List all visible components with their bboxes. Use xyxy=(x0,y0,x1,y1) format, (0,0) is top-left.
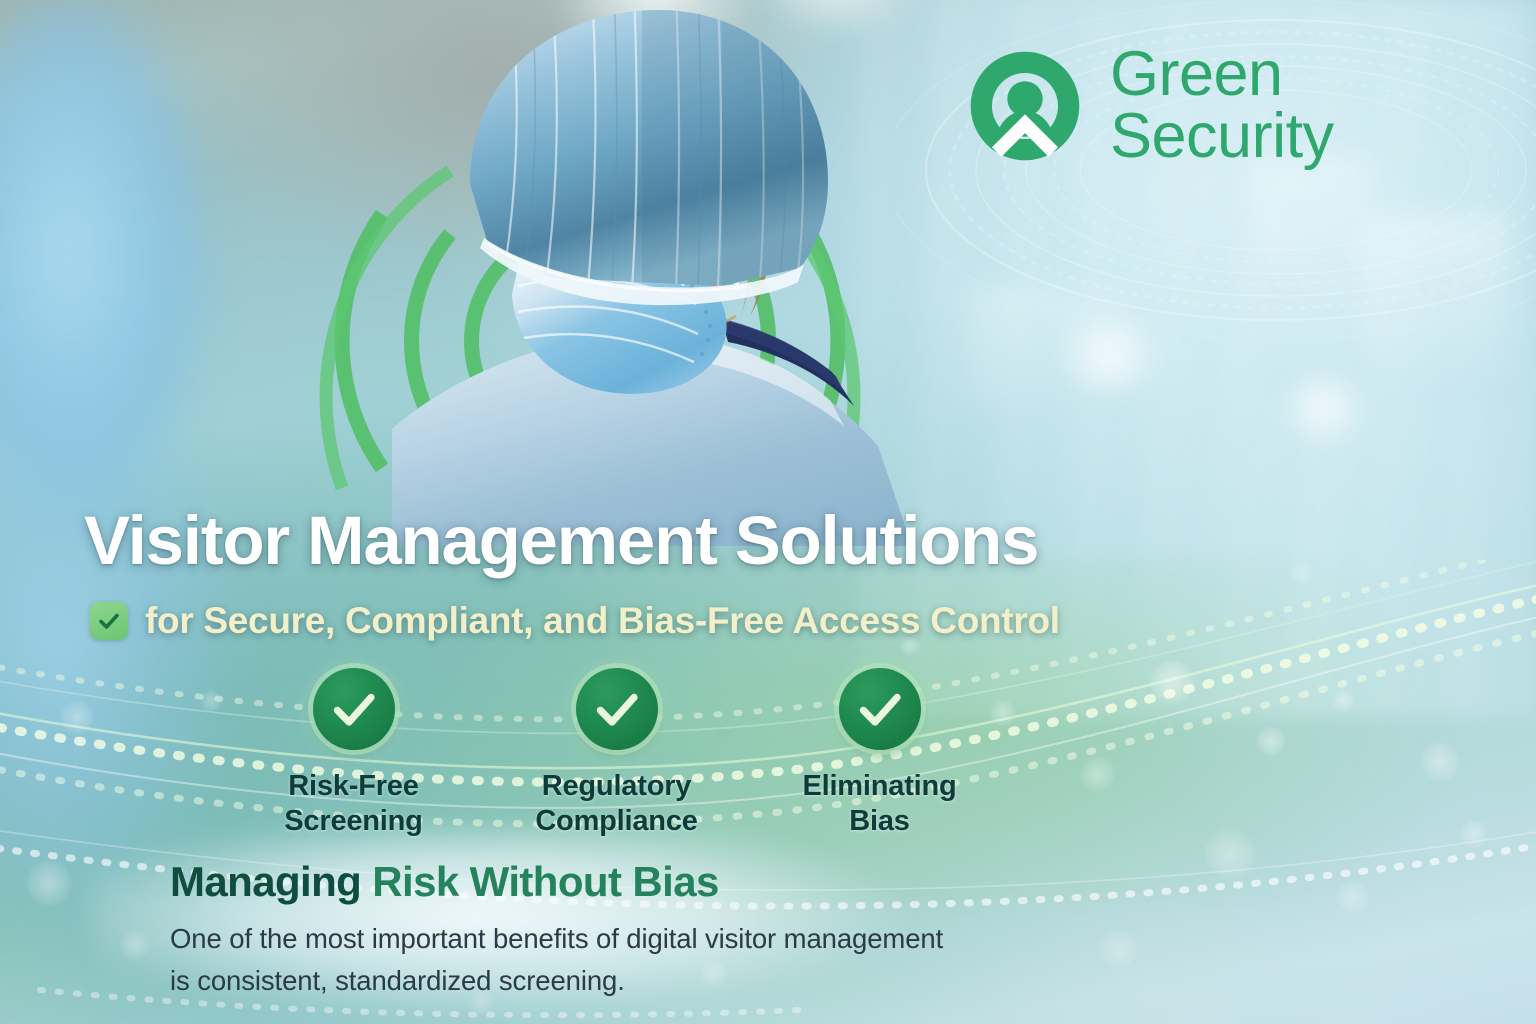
feature-item: Eliminating Bias xyxy=(748,668,1011,840)
section-heading-part2: Risk Without Bias xyxy=(372,858,718,905)
check-circle-icon xyxy=(839,668,921,750)
check-circle-icon xyxy=(313,668,395,750)
check-circle-icon xyxy=(576,668,658,750)
marketing-banner: Green Security Visitor Management Soluti… xyxy=(0,0,1536,1024)
feature-label: Risk-Free Screening xyxy=(284,769,422,840)
brand-wordmark: Green Security xyxy=(1110,44,1334,167)
page-title: Visitor Management Solutions xyxy=(84,506,1038,575)
brand-name-line2: Security xyxy=(1110,106,1334,168)
feature-label: Eliminating Bias xyxy=(802,769,956,840)
page-subtitle: for Secure, Compliant, and Bias-Free Acc… xyxy=(145,600,1060,642)
section-body-text: One of the most important benefits of di… xyxy=(170,918,943,1002)
brand-logo[interactable]: Green Security xyxy=(966,44,1334,167)
feature-item: Risk-Free Screening xyxy=(222,668,485,840)
checkbox-checked-icon xyxy=(90,602,128,640)
section-heading: Managing Risk Without Bias xyxy=(170,858,719,906)
subheadline-row: for Secure, Compliant, and Bias-Free Acc… xyxy=(90,600,1060,642)
feature-label: Regulatory Compliance xyxy=(535,769,697,840)
section-heading-part1: Managing xyxy=(170,858,372,905)
brand-name-line1: Green xyxy=(1110,44,1334,106)
feature-list: Risk-Free Screening Regulatory Complianc… xyxy=(222,668,1012,840)
feature-item: Regulatory Compliance xyxy=(485,668,748,840)
person-in-ring-icon xyxy=(966,47,1084,165)
